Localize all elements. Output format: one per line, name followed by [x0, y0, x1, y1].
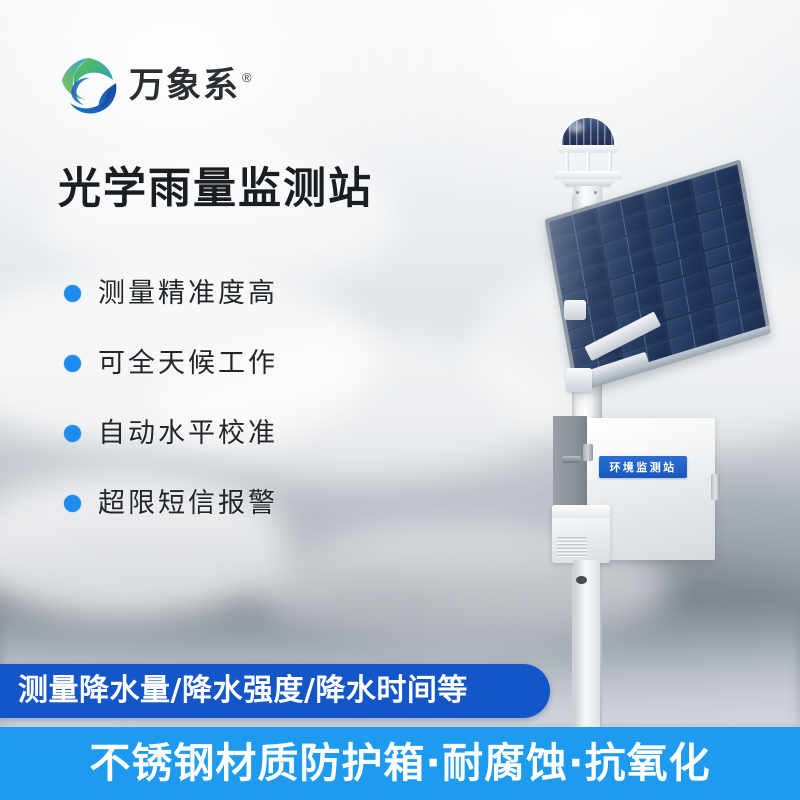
feature-banner-text: 测量降水量/降水强度/降水时间等 — [18, 676, 468, 706]
cabinet-plate-label: 环境监测站 — [610, 462, 677, 473]
sensor-post — [585, 152, 590, 172]
panel-mount-clamp — [566, 368, 592, 392]
mast-cable-gland — [576, 576, 587, 584]
footer-banner-text: 不锈钢材质防护箱·耐腐蚀·抗氧化 — [89, 743, 710, 784]
cabinet-name-plate: 环境监测站 — [599, 456, 687, 478]
sensor-dome — [562, 118, 614, 148]
support-mast-lower — [574, 560, 600, 740]
sensor-collar — [554, 171, 622, 180]
auxiliary-enclosure-lid — [552, 505, 610, 518]
sensor-screw — [594, 191, 597, 194]
auxiliary-enclosure-vent — [557, 537, 587, 557]
cabinet-side-vent — [562, 456, 581, 463]
cabinet-hinge — [583, 444, 593, 461]
product-poster: 万象系 ® 光学雨量监测站 测量精准度高 可全天候工作 自动水平校准 超限短信报… — [0, 0, 800, 800]
cabinet-latch[interactable] — [711, 474, 720, 500]
sensor-posts — [562, 152, 614, 172]
sensor-screw — [576, 191, 579, 194]
auxiliary-enclosure — [552, 505, 610, 563]
sensor-post — [564, 152, 569, 172]
footer-banner: 不锈钢材质防护箱·耐腐蚀·抗氧化 — [0, 727, 800, 800]
feature-banner: 测量降水量/降水强度/降水时间等 — [0, 664, 550, 718]
panel-upper-clamp — [564, 300, 586, 320]
sensor-dome-ribs — [562, 118, 614, 148]
optical-rain-sensor — [546, 118, 628, 208]
sensor-skirt — [558, 179, 618, 187]
sensor-post — [607, 152, 612, 172]
